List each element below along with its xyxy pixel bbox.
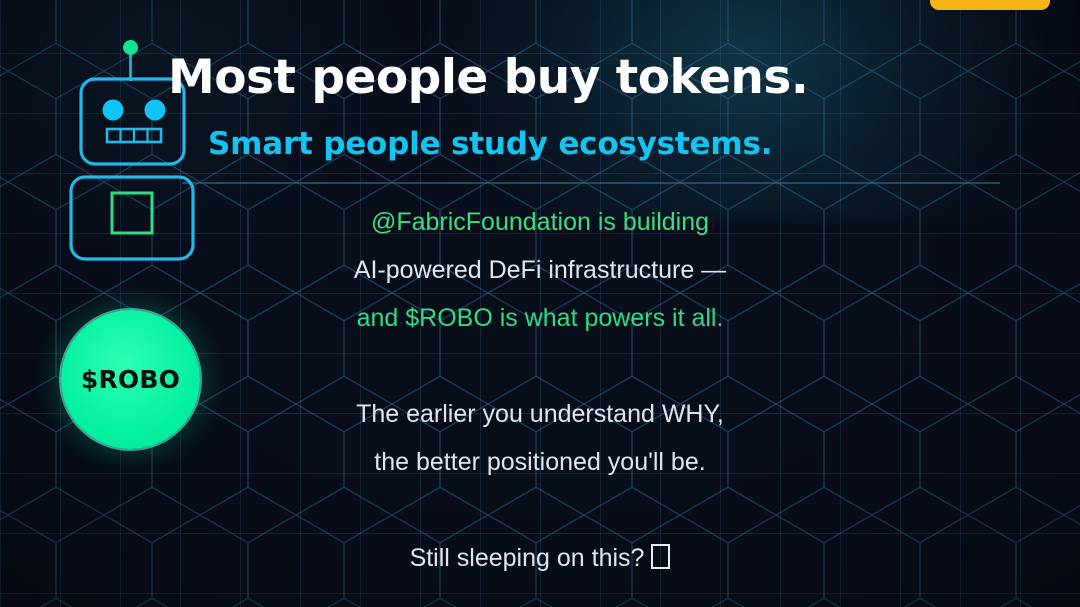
promo-graphic-canvas: $ROBO Most people buy tokens. Smart peop…: [0, 0, 1080, 607]
body-block-cta: Still sleeping on this?: [160, 534, 920, 582]
robot-antenna-bulb: [123, 40, 138, 55]
body-line-3-lead: and: [357, 304, 406, 332]
body-block-insight: The earlier you understand WHY, the bett…: [160, 390, 920, 486]
body-block-intro: @FabricFoundation is building AI-powered…: [160, 198, 920, 342]
body-line-1-rest: is building: [591, 208, 709, 236]
body-line-1: @FabricFoundation is building: [160, 198, 920, 246]
insight-line-2: the better positioned you'll be.: [160, 438, 920, 486]
insight-line-1: The earlier you understand WHY,: [160, 390, 920, 438]
cta-text: Still sleeping on this?: [410, 544, 645, 572]
missing-glyph-icon: [651, 544, 670, 569]
body-line-2: AI-powered DeFi infrastructure —: [160, 246, 920, 294]
robo-ticker-mention: $ROBO: [405, 304, 493, 332]
body-line-3-rest: is what powers it all.: [493, 304, 724, 332]
robot-mouth: [107, 129, 161, 142]
headline-secondary: Smart people study ecosystems.: [208, 122, 968, 166]
cta-line: Still sleeping on this?: [160, 534, 920, 582]
fabric-foundation-handle[interactable]: @FabricFoundation: [371, 208, 591, 236]
robot-eye-left: [103, 100, 124, 121]
body-line-3: and $ROBO is what powers it all.: [160, 294, 920, 342]
text-content-column: Most people buy tokens. Smart people stu…: [160, 0, 1040, 607]
headline-primary: Most people buy tokens.: [168, 48, 928, 108]
robot-chest-screen: [112, 193, 152, 233]
